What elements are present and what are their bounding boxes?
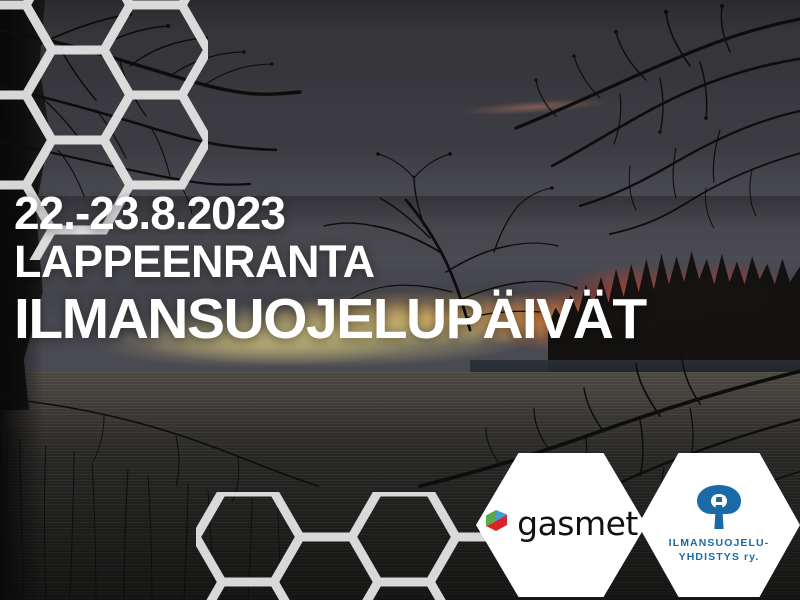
gasmet-cube-icon <box>484 508 510 539</box>
poster-canvas: 22.-23.8.2023 LAPPEENRANTA ILMANSUOJELUP… <box>0 0 800 600</box>
poster-headline: 22.-23.8.2023 LAPPEENRANTA ILMANSUOJELUP… <box>14 190 646 350</box>
gasmet-lockup: gasmet <box>484 504 638 543</box>
isy-line-1: ILMANSUOJELU- <box>669 537 770 549</box>
gasmet-wordmark: gasmet <box>517 504 638 543</box>
event-title: ILMANSUOJELUPÄIVÄT <box>14 289 646 349</box>
ilmansuojeluyhdistys-wordmark: ILMANSUOJELU- YHDISTYS ry. <box>669 537 770 563</box>
isy-line-2: YHDISTYS ry. <box>669 551 770 564</box>
blue-tree-chimney-icon <box>691 484 747 535</box>
top-vignette <box>0 0 800 210</box>
ilmansuojeluyhdistys-lockup: ILMANSUOJELU- YHDISTYS ry. <box>669 484 770 563</box>
event-city: LAPPEENRANTA <box>14 237 646 287</box>
event-date: 22.-23.8.2023 <box>14 190 646 237</box>
